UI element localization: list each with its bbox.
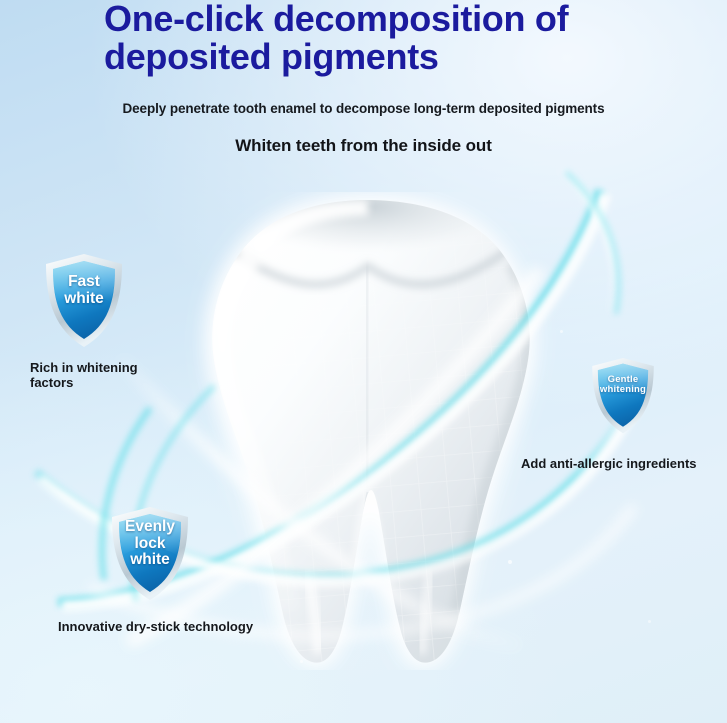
subtitle-primary: Deeply penetrate tooth enamel to decompo… bbox=[0, 101, 727, 116]
badge-label: Gentle whitening bbox=[589, 375, 657, 396]
badge-label: Fast white bbox=[42, 274, 126, 307]
tooth-illustration bbox=[168, 192, 572, 670]
badge-label: Evenly lock white bbox=[108, 519, 192, 569]
badge-evenly-lock-white[interactable]: Evenly lock white bbox=[108, 505, 192, 603]
product-poster: One-click decomposition of deposited pig… bbox=[0, 0, 727, 723]
subtitle-secondary: Whiten teeth from the inside out bbox=[0, 136, 727, 156]
caption-add-anti-allergic-ingredients: Add anti-allergic ingredients bbox=[521, 456, 727, 471]
page-title: One-click decomposition of deposited pig… bbox=[104, 0, 664, 76]
badge-fast-white[interactable]: Fast white bbox=[42, 252, 126, 350]
badge-gentle-whitening[interactable]: Gentle whitening bbox=[589, 356, 657, 436]
caption-rich-in-whitening-factors: Rich in whitening factors bbox=[30, 360, 200, 390]
sparkle-dot bbox=[648, 620, 651, 623]
caption-innovative-dry-stick-technology: Innovative dry-stick technology bbox=[58, 619, 318, 634]
